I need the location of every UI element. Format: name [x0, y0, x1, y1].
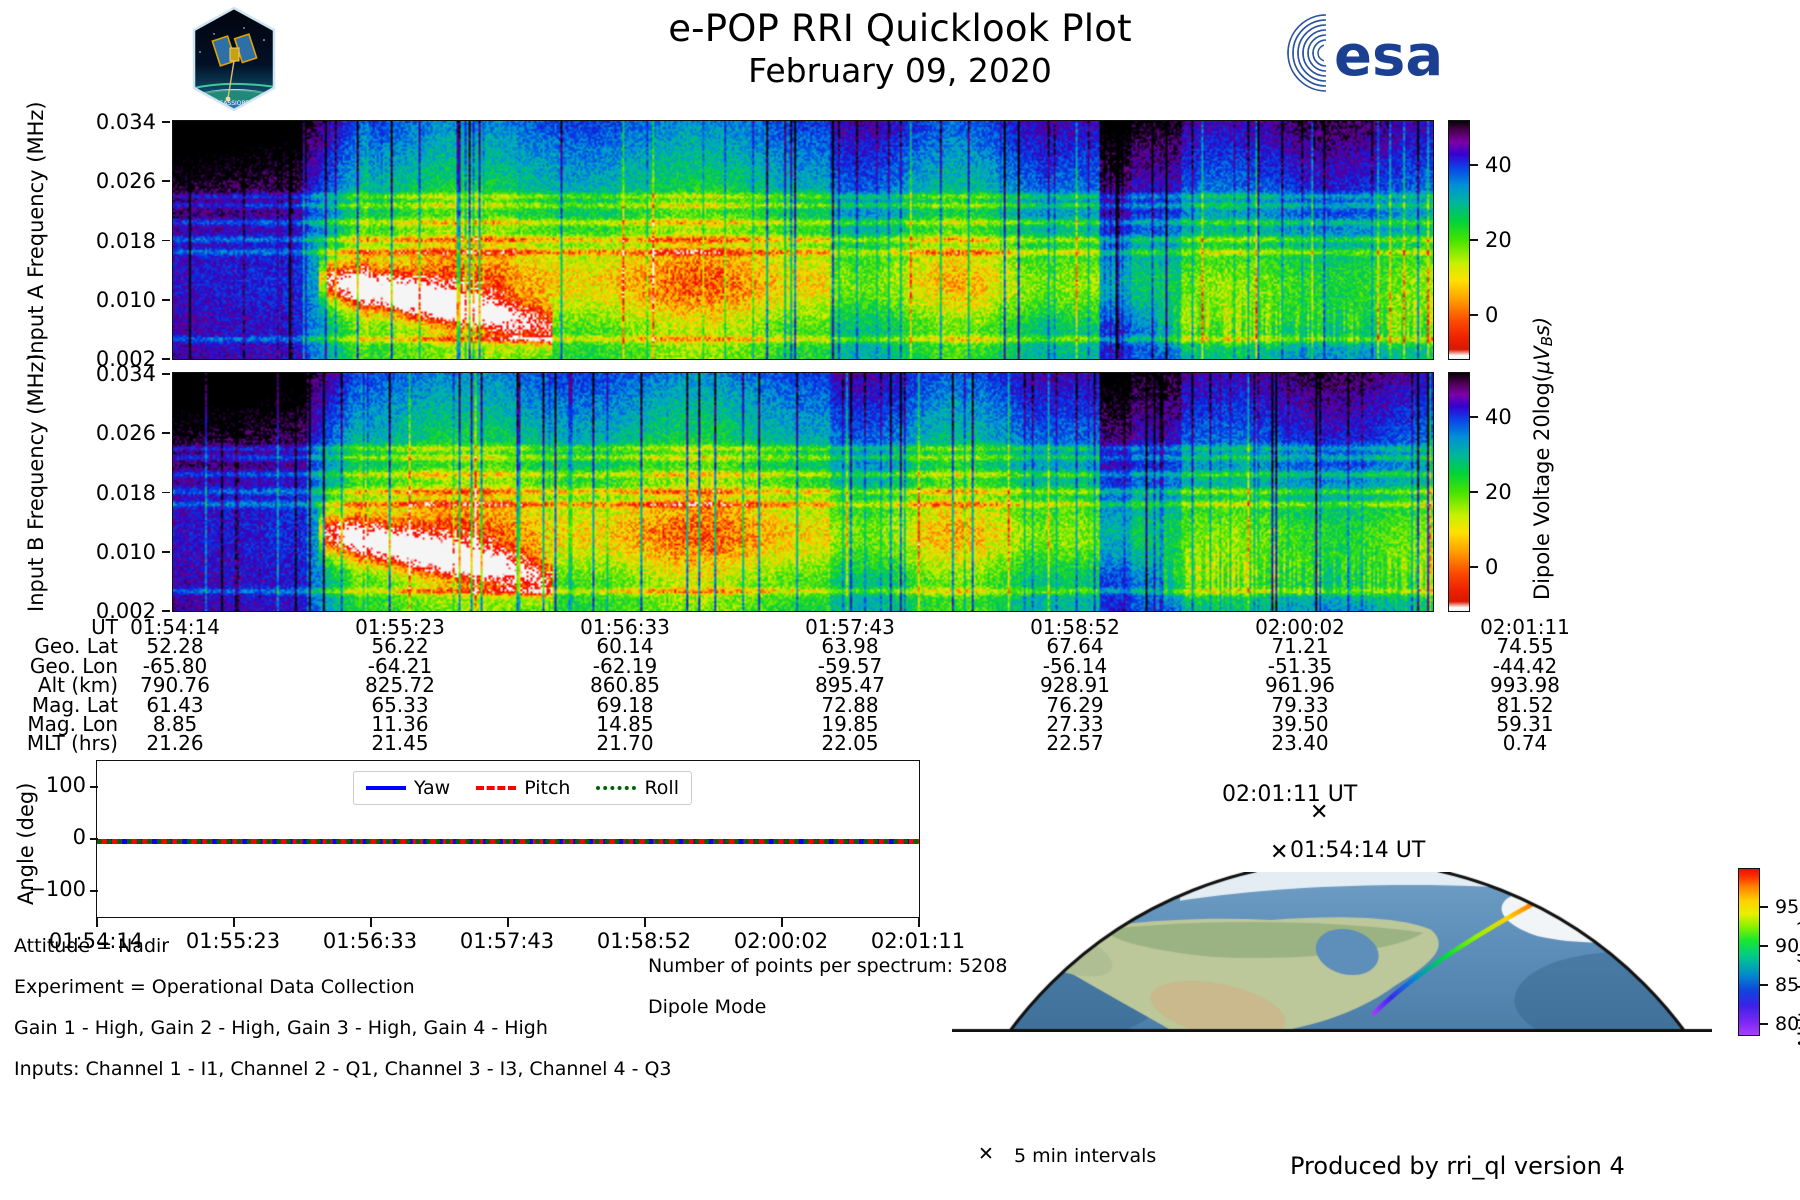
footer-inputs: Inputs: Channel 1 - I1, Channel 2 - Q1, … — [14, 1058, 672, 1080]
ytick-mark — [162, 492, 170, 494]
attitude-ytick-label: 100 — [14, 773, 86, 797]
attitude-xtick-mark — [507, 918, 509, 927]
spectrogram-a-panel[interactable] — [172, 120, 1434, 360]
spectrogram-b-image — [173, 373, 1433, 611]
spectrogram-b-panel[interactable] — [172, 372, 1434, 612]
attitude-ytick-mark — [90, 838, 98, 840]
ytick-mark — [162, 180, 170, 182]
attitude-xtick-mark — [233, 918, 235, 927]
ytick-mark — [162, 551, 170, 553]
produced-by-label: Produced by rri_ql version 4 — [1290, 1152, 1625, 1180]
interval-marker-icon: ✕ — [978, 1143, 994, 1165]
ytick-label: 0.010 — [60, 540, 156, 564]
orbit-map-image — [952, 872, 1712, 1032]
colorbar-label-tail: s) — [1530, 317, 1554, 336]
attitude-xtick-mark — [918, 918, 920, 927]
colorbar-tick-label: 0 — [1485, 303, 1498, 327]
roll-trace — [97, 839, 919, 844]
colorbar-label-sub: B — [1538, 336, 1556, 346]
ytick-label: 0.034 — [60, 110, 156, 134]
footer-experiment: Experiment = Operational Data Collection — [14, 976, 672, 998]
ytick: 0.018 — [60, 229, 170, 253]
map-label-start-time: 01:54:14 UT — [1290, 838, 1425, 863]
table-cell: 0.74 — [1450, 734, 1600, 753]
table-cell: 21.26 — [100, 734, 250, 753]
colorbar-b — [1448, 372, 1470, 612]
ytick-label: 0.018 — [60, 229, 156, 253]
table-row: MLT (hrs)21.2621.4521.7022.0522.5723.400… — [0, 734, 1800, 753]
legend-label: Yaw — [414, 777, 450, 799]
esa-wordmark: esa — [1334, 24, 1443, 89]
colorbar-label: Dipole Voltage 20log(μVBs) — [1530, 317, 1556, 600]
legend-label: Roll — [644, 777, 679, 799]
legend-swatch — [366, 786, 406, 790]
footer-gains: Gain 1 - High, Gain 2 - High, Gain 3 - H… — [14, 1017, 672, 1039]
spectrogram-a-ylabel: Input A Frequency (MHz) — [24, 101, 48, 360]
attitude-xtick-mark — [370, 918, 372, 927]
altitude-colorbar — [1738, 868, 1760, 1036]
table-cell: 21.70 — [550, 734, 700, 753]
colorbar-a — [1448, 120, 1470, 360]
ytick-mark — [162, 358, 170, 360]
colorbar-tick: 20 — [1470, 480, 1512, 504]
legend-item: Roll — [596, 777, 679, 799]
table-cell: 21.45 — [325, 734, 475, 753]
ytick-mark — [162, 240, 170, 242]
legend-item: Pitch — [476, 777, 570, 799]
colorbar-tick: 40 — [1470, 153, 1512, 177]
ytick-mark — [162, 373, 170, 375]
ytick: 0.026 — [60, 169, 170, 193]
legend-swatch — [476, 786, 516, 790]
footer-left-block: Attitude = Nadir Experiment = Operationa… — [14, 935, 672, 1080]
ytick: 0.034 — [60, 110, 170, 134]
ytick-mark — [162, 299, 170, 301]
ytick: 0.010 — [60, 288, 170, 312]
attitude-plot-panel[interactable]: YawPitchRoll — [96, 760, 920, 918]
colorbar-tick: 0 — [1470, 303, 1498, 327]
attitude-xtick-mark — [781, 918, 783, 927]
colorbar-tick-label: 0 — [1485, 555, 1498, 579]
table-cell: 22.05 — [775, 734, 925, 753]
colorbar-tick: 0 — [1470, 555, 1498, 579]
attitude-ytick-label: 0 — [14, 825, 86, 849]
attitude-ytick-mark — [90, 786, 98, 788]
ytick-label: 0.026 — [60, 421, 156, 445]
legend-swatch — [596, 786, 636, 790]
ytick-label: 0.010 — [60, 288, 156, 312]
altitude-colorbar-label: Altitude (km) — [1794, 919, 1800, 1050]
ytick-mark — [162, 121, 170, 123]
footer-attitude: Attitude = Nadir — [14, 935, 672, 957]
map-marker-end-icon: ✕ — [1310, 800, 1328, 825]
ytick: 0.034 — [60, 362, 170, 386]
legend-label: Pitch — [524, 777, 570, 799]
attitude-xtick-mark — [96, 918, 98, 927]
table-cell: 22.57 — [1000, 734, 1150, 753]
spectrogram-a-image — [173, 121, 1433, 359]
attitude-xtick-mark — [644, 918, 646, 927]
attitude-legend: YawPitchRoll — [353, 771, 692, 805]
colorbar-tick-label: 20 — [1485, 228, 1512, 252]
ytick: 0.010 — [60, 540, 170, 564]
colorbar-tick-label: 40 — [1485, 405, 1512, 429]
spectrogram-b-ylabel: Input B Frequency (MHz) — [24, 353, 48, 612]
colorbar-tick-label: 20 — [1485, 480, 1512, 504]
ytick-label: 0.026 — [60, 169, 156, 193]
table-cell: 23.40 — [1225, 734, 1375, 753]
attitude-xtick-label: 02:00:02 — [711, 929, 851, 953]
colorbar-tick: 40 — [1470, 405, 1512, 429]
colorbar-tick: 20 — [1470, 228, 1512, 252]
colorbar-tick-label: 40 — [1485, 153, 1512, 177]
ytick: 0.026 — [60, 421, 170, 445]
ytick-mark — [162, 432, 170, 434]
orbit-map-panel[interactable] — [952, 872, 1712, 1032]
ytick: 0.018 — [60, 481, 170, 505]
map-label-end-time: 02:01:11 UT — [1222, 782, 1357, 807]
ytick-label: 0.034 — [60, 362, 156, 386]
interval-legend-label: 5 min intervals — [1014, 1145, 1156, 1167]
altitude-tick-label: 950 — [1775, 896, 1800, 918]
colorbar-label-unit: μV — [1530, 346, 1554, 374]
colorbar-label-main: Dipole Voltage 20log( — [1530, 374, 1554, 600]
esa-logo-icon: esa — [1278, 12, 1478, 94]
ytick-mark — [162, 610, 170, 612]
legend-item: Yaw — [366, 777, 450, 799]
cassiope-mission-patch-icon: CASSIOPE — [186, 6, 282, 112]
ytick-label: 0.018 — [60, 481, 156, 505]
attitude-ytick-mark — [90, 890, 98, 892]
altitude-tick: 950 — [1760, 896, 1800, 918]
map-marker-start-icon: ✕ — [1270, 840, 1288, 865]
attitude-ytick-label: −100 — [14, 877, 86, 901]
ephemeris-table: UT01:54:1401:55:2301:56:3301:57:4301:58:… — [0, 618, 1800, 754]
